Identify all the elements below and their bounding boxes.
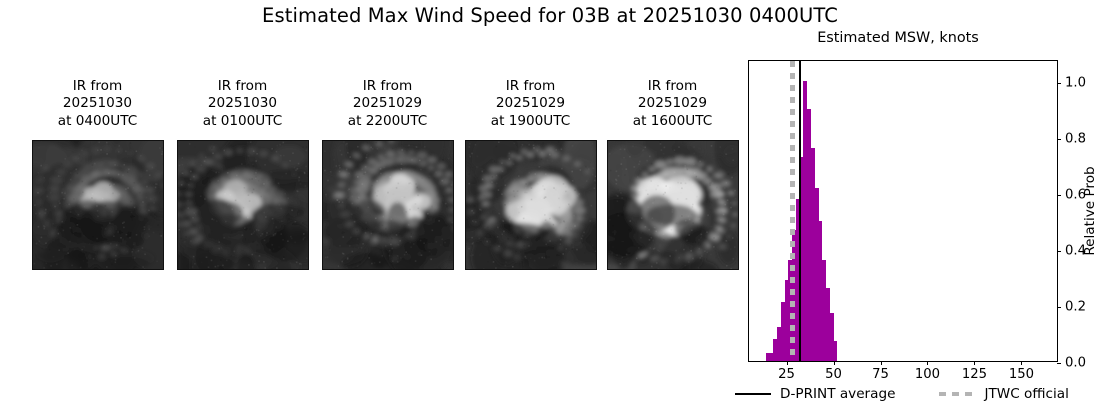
y-axis-tick [1057,83,1061,84]
x-axis-tick [881,361,882,365]
legend-item-dprint: D-PRINT average [735,386,895,402]
y-axis-label: Relative Prob [1082,166,1098,255]
ir-panel-2200utc: IR from 20251029 at 2200UTC [315,78,460,130]
jtwc-dash-swatch [939,392,975,395]
ir-panel-caption: IR from 20251029 at 1900UTC [458,78,603,130]
legend-label-dprint: D-PRINT average [780,386,895,402]
ir-panel-0100utc: IR from 20251030 at 0100UTC [170,78,315,130]
y-axis-tick-label: 0.2 [1065,300,1086,315]
y-axis-tick [1057,363,1061,364]
ir-panel-caption: IR from 20251029 at 1600UTC [600,78,745,130]
ir-satellite-image [177,140,309,270]
x-axis-tick-label: 125 [962,367,987,382]
ir-satellite-image [607,140,739,270]
ir-panel-caption: IR from 20251030 at 0100UTC [170,78,315,130]
histogram-bars [749,61,1057,361]
x-axis-tick-label: 50 [825,367,842,382]
ir-panel-0400utc: IR from 20251030 at 0400UTC [25,78,170,130]
y-axis-tick-label: 0.0 [1065,356,1086,371]
histogram-bar [834,341,838,361]
x-axis-tick-label: 150 [1009,367,1034,382]
x-axis-tick [787,361,788,365]
y-axis-tick [1057,307,1061,308]
dprint-line-swatch [735,393,771,395]
chart-legend: D-PRINT average JTWC official [735,384,1085,404]
ir-satellite-image [465,140,597,270]
histogram-chart: Estimated MSW, knots 2550751001251500.00… [735,30,1100,409]
x-axis-tick-label: 100 [915,367,940,382]
plot-area: 2550751001251500.00.20.40.60.81.0 [748,60,1058,362]
page-title: Estimated Max Wind Speed for 03B at 2025… [0,4,1100,27]
legend-item-jtwc: JTWC official [939,386,1068,402]
x-axis-tick-label: 75 [872,367,889,382]
chart-title: Estimated MSW, knots [735,30,1061,46]
y-axis-tick-label: 1.0 [1065,76,1086,91]
y-axis-tick [1057,251,1061,252]
ir-panel-1600utc: IR from 20251029 at 1600UTC [600,78,745,130]
legend-label-jtwc: JTWC official [984,386,1068,402]
y-axis-tick [1057,195,1061,196]
ir-panel-1900utc: IR from 20251029 at 1900UTC [458,78,603,130]
y-axis-tick [1057,139,1061,140]
ir-panel-caption: IR from 20251030 at 0400UTC [25,78,170,130]
ir-satellite-image [32,140,164,270]
ir-satellite-image [322,140,454,270]
x-axis-tick-label: 25 [778,367,795,382]
jtwc-official-line [790,61,795,361]
x-axis-tick [1021,361,1022,365]
ir-panel-caption: IR from 20251029 at 2200UTC [315,78,460,130]
x-axis-tick [927,361,928,365]
y-axis-tick-label: 0.8 [1065,132,1086,147]
x-axis-tick [834,361,835,365]
x-axis-tick [974,361,975,365]
ir-image-strip: IR from 20251030 at 0400UTCIR from 20251… [0,78,748,288]
dprint-average-line [799,61,801,361]
